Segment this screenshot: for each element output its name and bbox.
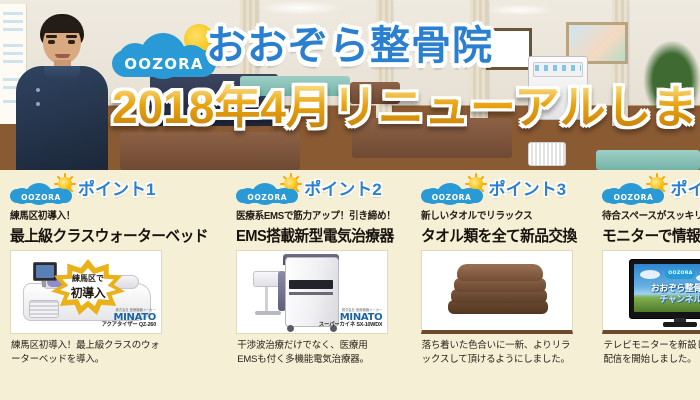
mouth: [55, 54, 70, 58]
clinic-hero-photo: OOZORA おおぞら整骨院 2018年4月リニューアルしました！: [0, 0, 700, 170]
staff-photo: [14, 8, 110, 170]
point-card-2: OOZORA ポイント2 医療系EMSで筋力アップ！引き締め！ EMS搭載新型電…: [226, 170, 410, 400]
product-photo-ems-machine: 株式会社 医療機器メーカー MINATO スーパーカイネ SX-10WDX: [236, 250, 388, 334]
uniform-button: [36, 102, 40, 106]
badge-wordmark: OOZORA: [10, 193, 72, 202]
folded-towels: [448, 262, 548, 314]
point-lead: 医療系EMSで筋力アップ！引き締め！: [236, 207, 396, 222]
point-badge-4: OOZORA ポイント4: [602, 176, 700, 206]
point-card-1: OOZORA ポイント1 練馬区初導入！ 最上級クラスウォーターベッド 練馬区で…: [0, 170, 226, 400]
tv-screen: OOZORA おおぞら整骨院 チャンネル: [634, 264, 700, 312]
page-title: おおぞら整骨院: [206, 26, 493, 66]
treatment-bed: [120, 132, 300, 170]
oozora-logo: OOZORA: [112, 24, 220, 80]
tv-monitor: OOZORA おおぞら整骨院 チャンネル: [629, 259, 700, 319]
model-name: スーパーカイネ SX-10WDX: [319, 323, 383, 329]
cloud-icon: OOZORA: [10, 183, 72, 203]
first-in-ward-ribbon: 練馬区で 初導入: [51, 259, 125, 315]
point-card-3: OOZORA ポイント3 新しいタオルでリラックス タオル類を全て新品交換 落ち…: [411, 170, 593, 400]
point-label: ポイント2: [304, 181, 381, 198]
eyebrow: [66, 35, 77, 38]
point-badge-2: OOZORA ポイント2: [236, 176, 402, 206]
eye: [48, 40, 55, 44]
renewal-subtitle: 2018年4月リニューアルしました！: [112, 84, 700, 130]
point-label: ポイント4: [670, 181, 700, 198]
screen-logo-badge: OOZORA: [665, 268, 695, 279]
point-label: ポイント1: [78, 181, 155, 198]
point-caption: 干渉波治療だけでなく、医療用EMSも付く多機能電気治療器。: [237, 339, 387, 367]
point-heading: 最上級クラスウォーターベッド: [10, 224, 208, 246]
screen-line-2: チャンネル: [634, 292, 700, 305]
product-photo-tv-monitor: OOZORA おおぞら整骨院 チャンネル: [602, 250, 700, 334]
uniform-button: [36, 88, 40, 92]
ribbon-line-2: 初導入: [51, 284, 125, 301]
point-lead: 待合スペースがスッキリしました: [602, 207, 700, 222]
point-lead: 練馬区初導入！: [10, 207, 210, 222]
eye: [68, 40, 75, 44]
ribbon-line-1: 練馬区で: [51, 273, 125, 284]
point-caption: 練馬区初導入！最上級クラスのウォーターベッドを導入。: [11, 339, 161, 367]
model-name: アクアタイザー QZ-260: [102, 323, 156, 329]
point-heading: タオル類を全て新品交換: [421, 224, 577, 246]
product-photo-waterbed: 練馬区で 初導入 株式会社 医療機器メーカー MINATO アクアタイザー QZ…: [10, 250, 162, 334]
product-photo-towels: [421, 250, 573, 334]
eyebrow: [46, 35, 57, 38]
point-heading: EMS搭載新型電気治療器: [236, 224, 394, 246]
treatment-bed: [596, 150, 700, 170]
badge-wordmark: OOZORA: [602, 193, 664, 202]
laundry-basket: [528, 142, 566, 166]
cloud-icon: OOZORA: [236, 183, 298, 203]
point-caption: 落ち着いた色合いに一新、よりリラックスして頂けるようにしました。: [422, 339, 572, 367]
badge-wordmark: OOZORA: [236, 193, 298, 202]
tv-stand: [663, 322, 697, 327]
point-card-4: OOZORA ポイント4 待合スペースがスッキリしました モニターで情報配信 O…: [592, 170, 700, 400]
brand-mark: 株式会社 医療機器メーカー MINATO スーパーカイネ SX-10WDX: [319, 309, 383, 329]
cloud-icon: OOZORA: [112, 33, 216, 77]
machine-buttons: [535, 65, 581, 71]
brand-mark: 株式会社 医療機器メーカー MINATO アクアタイザー QZ-260: [102, 309, 156, 329]
renewal-banner: OOZORA おおぞら整骨院 2018年4月リニューアルしました！: [0, 0, 700, 400]
uniform-collar: [44, 66, 80, 82]
point-badge-3: OOZORA ポイント3: [421, 176, 585, 206]
logo-wordmark: OOZORA: [112, 55, 216, 73]
point-lead: 新しいタオルでリラックス: [421, 207, 578, 222]
badge-wordmark: OOZORA: [421, 193, 483, 202]
point-badge-1: OOZORA ポイント1: [10, 176, 218, 206]
cloud-icon: OOZORA: [602, 183, 664, 203]
point-caption: テレビモニターを新設し、お知らせ配信を開始しました。: [603, 339, 700, 367]
points-grid: OOZORA ポイント1 練馬区初導入！ 最上級クラスウォーターベッド 練馬区で…: [0, 170, 700, 400]
cloud-icon: OOZORA: [421, 183, 483, 203]
point-heading: モニターで情報配信: [602, 224, 700, 246]
point-label: ポイント3: [489, 181, 566, 198]
